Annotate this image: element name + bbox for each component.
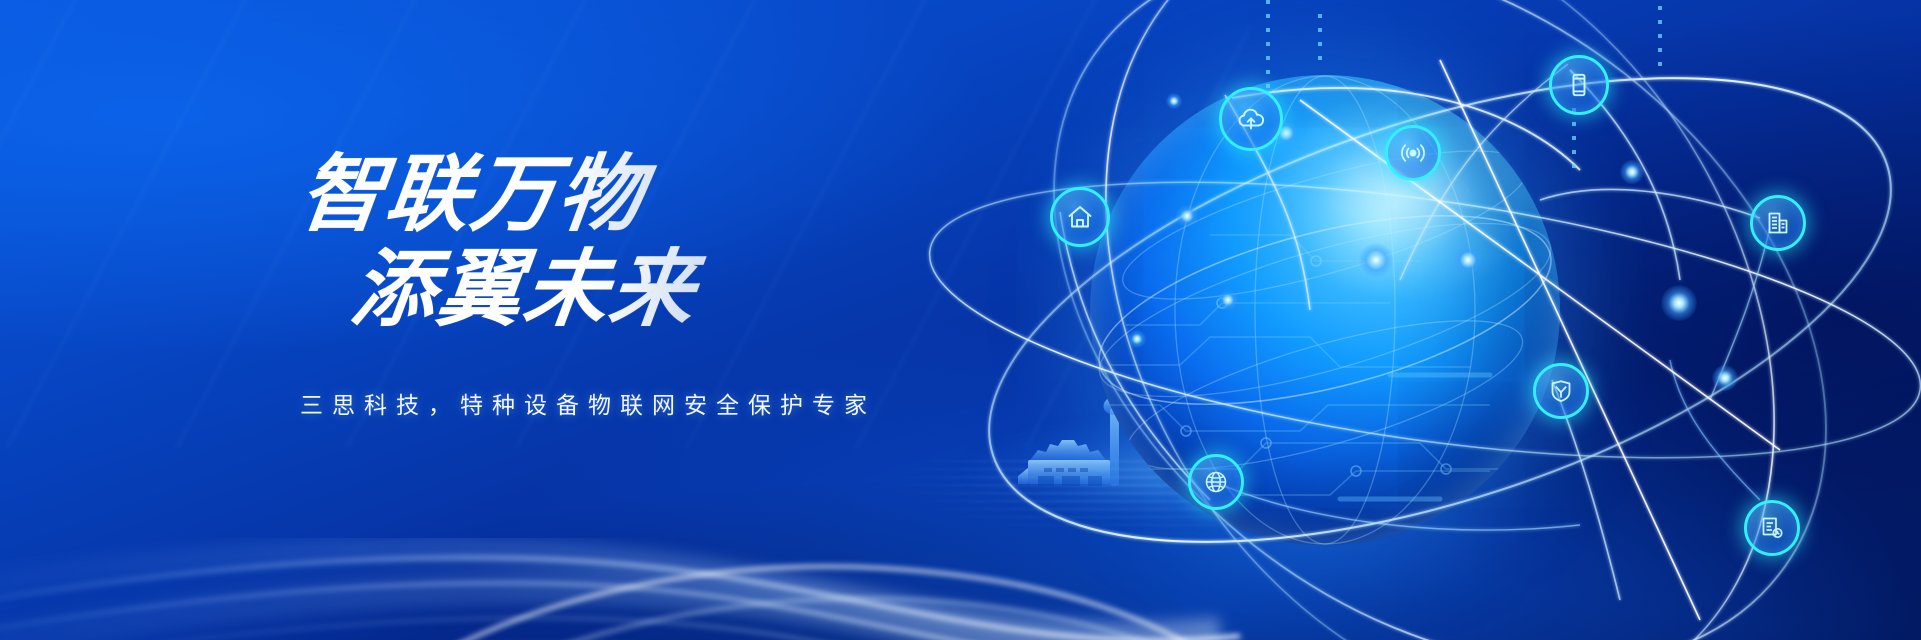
signal-wave-icon (1399, 139, 1427, 167)
node-document-report[interactable] (1744, 500, 1800, 556)
data-stream-dots (1572, 108, 1576, 170)
data-stream-dots (1658, 6, 1662, 76)
glow-dot (1128, 330, 1146, 348)
banner-subtitle: 三思科技，特种设备物联网安全保护专家 (300, 386, 1060, 420)
hero-banner: 智联万物 添翼未来 三思科技，特种设备物联网安全保护专家 (0, 0, 1921, 640)
data-stream-dots (1318, 14, 1322, 62)
headline-line-1: 智联万物 (295, 150, 1066, 239)
node-cloud-upload[interactable] (1219, 87, 1283, 151)
headline-line-2: 添翼未来 (347, 245, 1066, 334)
glow-dot (1166, 93, 1182, 109)
document-report-icon (1759, 515, 1785, 541)
banner-copy: 智联万物 添翼未来 三思科技，特种设备物联网安全保护专家 (300, 150, 1060, 420)
glow-dot (1176, 205, 1198, 227)
data-stream-dots (1266, 0, 1270, 96)
globe-network-icon (1202, 468, 1230, 496)
node-building[interactable] (1750, 195, 1806, 251)
glow-dot (1661, 285, 1697, 321)
building-icon (1765, 210, 1791, 236)
shield-icon (1548, 378, 1574, 404)
glow-dot (1620, 160, 1644, 184)
node-signal-wave[interactable] (1385, 125, 1441, 181)
glow-dot (1218, 290, 1238, 310)
cloud-upload-icon (1235, 103, 1267, 135)
globe-rim (1090, 75, 1560, 545)
node-shield[interactable] (1533, 363, 1589, 419)
glow-dot (1712, 365, 1738, 391)
home-icon (1066, 203, 1094, 231)
node-mobile-phone[interactable] (1549, 55, 1609, 115)
glow-dot (1454, 246, 1482, 274)
mobile-phone-icon (1566, 72, 1592, 98)
node-globe-network[interactable] (1188, 454, 1244, 510)
globe (1090, 75, 1560, 545)
glow-dot (1359, 243, 1393, 277)
